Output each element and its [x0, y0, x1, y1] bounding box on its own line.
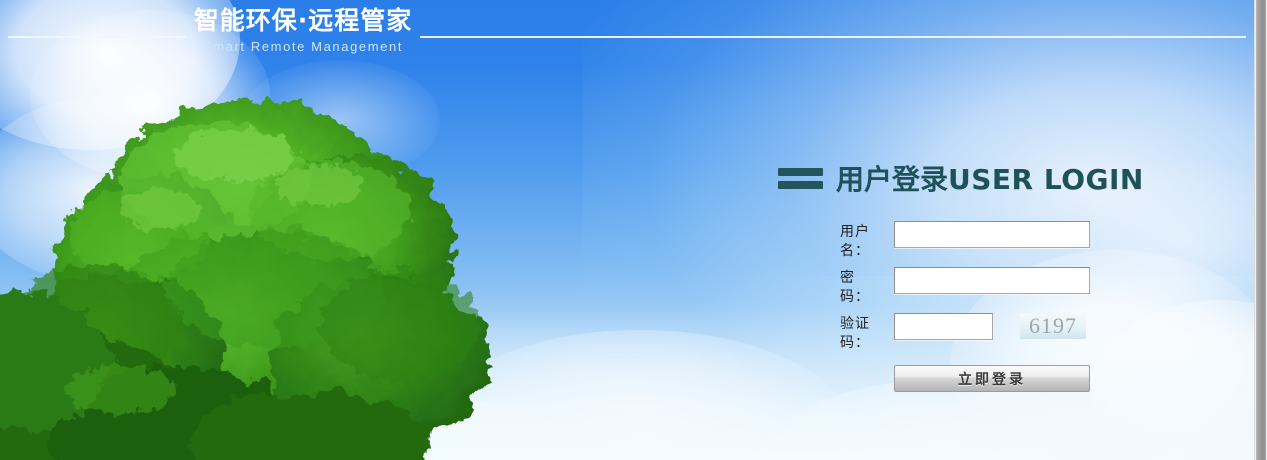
login-panel: 用户登录USER LOGIN 用户名： 密 码： 验证码： 6197 立即登录	[778, 155, 1148, 392]
captcha-label: 验证码：	[840, 313, 894, 353]
username-label: 用户名：	[840, 221, 894, 261]
username-input[interactable]	[894, 221, 1090, 248]
brand-block: 智能环保·远程管家 Smart Remote Management	[188, 8, 418, 53]
login-title-row: 用户登录USER LOGIN	[778, 155, 1148, 201]
brand-title-cn: 智能环保·远程管家	[188, 8, 418, 33]
page-title: 用户登录USER LOGIN	[836, 158, 1144, 198]
page-header: 智能环保·远程管家 Smart Remote Management	[0, 0, 1254, 66]
form-row-captcha: 验证码： 6197	[840, 313, 1148, 353]
login-button[interactable]: 立即登录	[894, 365, 1090, 392]
captcha-image[interactable]: 6197	[1020, 313, 1086, 339]
header-rule-right	[420, 36, 1246, 38]
login-page: 智能环保·远程管家 Smart Remote Management 用户登录US…	[0, 0, 1267, 460]
header-rule-left	[8, 36, 186, 38]
scrollbar-thumb[interactable]	[1256, 0, 1266, 460]
captcha-input[interactable]	[894, 313, 993, 340]
vertical-scrollbar[interactable]	[1254, 0, 1267, 460]
submit-row: 立即登录	[894, 365, 1148, 392]
two-bars-icon	[778, 168, 823, 189]
form-row-password: 密 码：	[840, 267, 1148, 307]
password-label: 密 码：	[840, 267, 894, 307]
login-title-cn: 用户登录	[836, 163, 948, 196]
brand-subtitle-en: Smart Remote Management	[188, 40, 418, 53]
login-title-en: USER LOGIN	[948, 163, 1144, 196]
login-form: 用户名： 密 码： 验证码： 6197 立即登录	[840, 221, 1148, 392]
form-row-username: 用户名：	[840, 221, 1148, 261]
password-input[interactable]	[894, 267, 1090, 294]
